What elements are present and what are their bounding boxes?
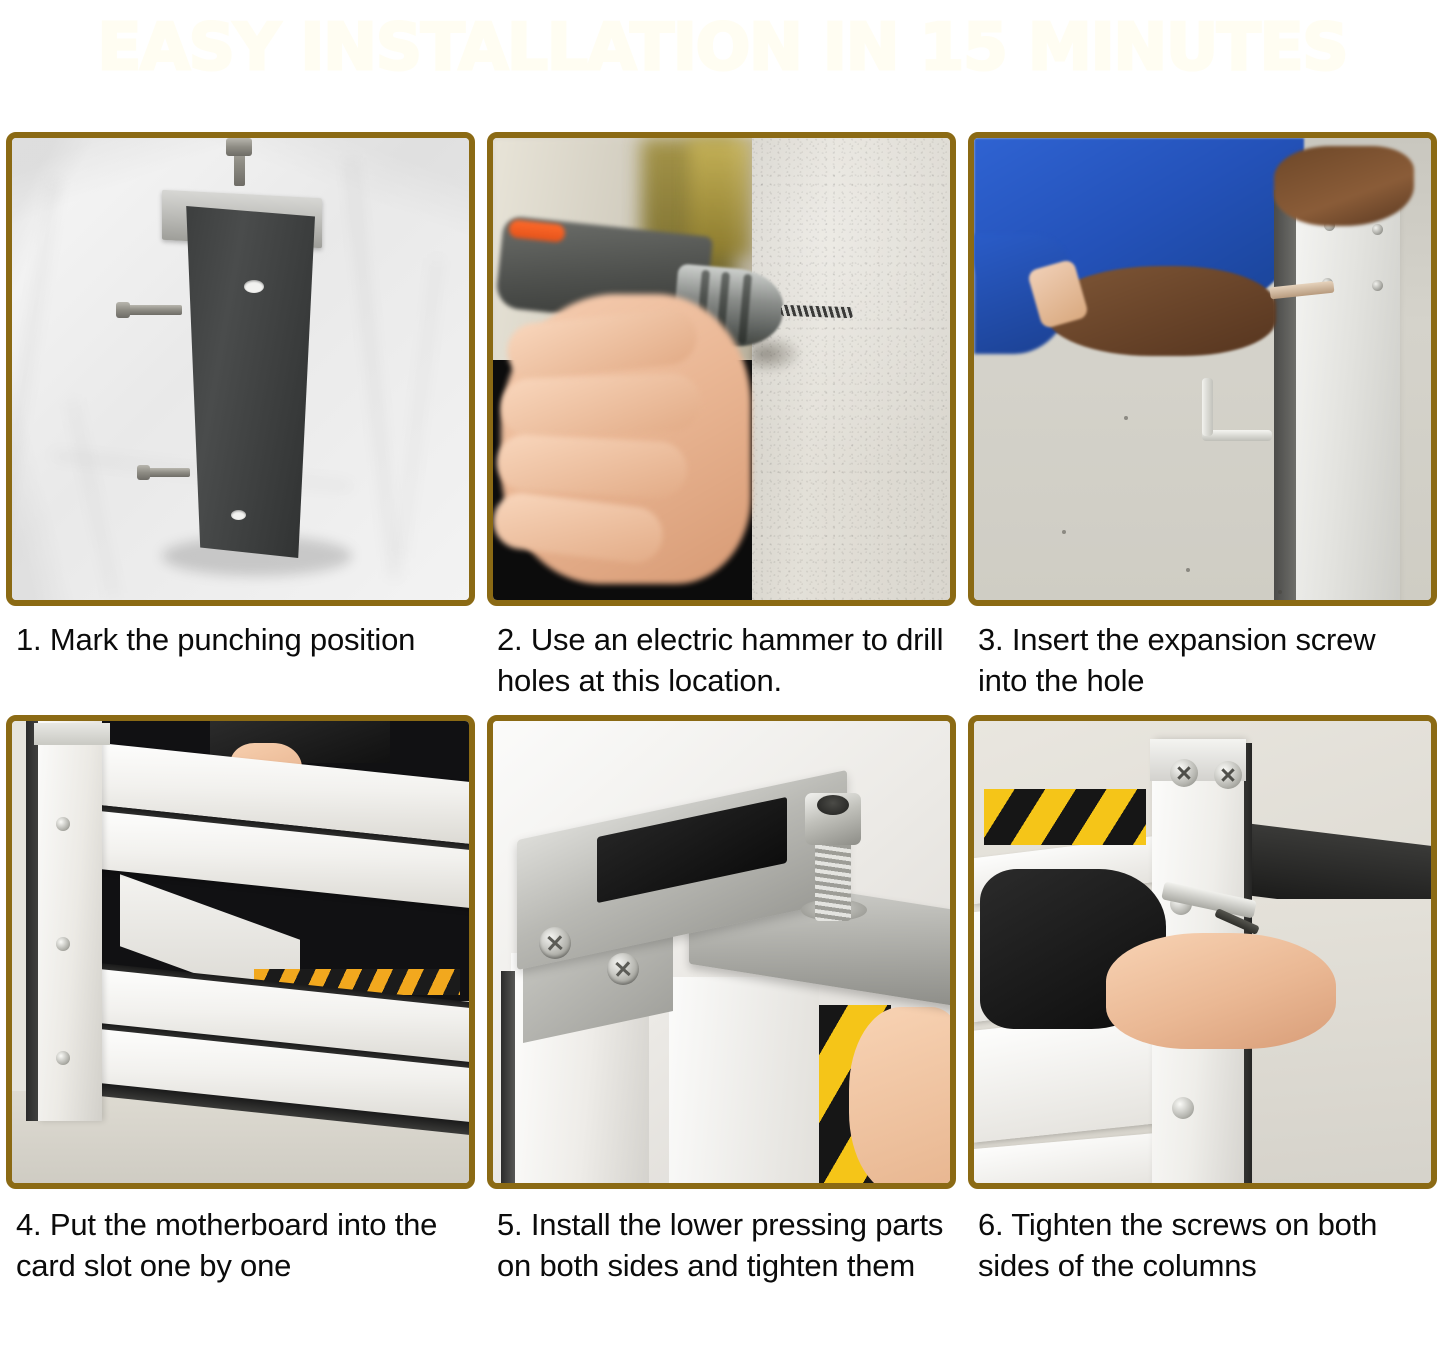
step-6-frame [968,715,1437,1189]
step-3-frame [968,132,1437,606]
steps-grid: 1. Mark the punching position [0,132,1445,1287]
step-1-cell: 1. Mark the punching position [0,132,481,702]
step-2-caption: 2. Use an electric hammer to drill holes… [487,606,956,702]
step-5-frame [487,715,956,1189]
page-title: EASY INSTALLATION IN 15 MINUTES EASY INS… [98,11,1348,85]
page-title-banner: EASY INSTALLATION IN 15 MINUTES EASY INS… [0,0,1445,96]
step-3-caption: 3. Insert the expansion screw into the h… [968,606,1437,702]
step-4-cell: 4. Put the motherboard into the card slo… [0,715,481,1287]
step-2-frame [487,132,956,606]
step-6-cell: 6. Tighten the screws on both sides of t… [962,715,1443,1287]
step-5-photo-install-lower-pressing-parts [493,721,950,1183]
step-1-frame [6,132,475,606]
step-3-cell: 3. Insert the expansion screw into the h… [962,132,1443,702]
step-1-caption: 1. Mark the punching position [6,606,475,661]
step-2-cell: 2. Use an electric hammer to drill holes… [481,132,962,702]
step-6-photo-tighten-screws [974,721,1431,1183]
step-5-cell: 5. Install the lower pressing parts on b… [481,715,962,1287]
step-1-photo-mark-punching-position [12,138,469,600]
page-title-text: EASY INSTALLATION IN 15 MINUTES [98,11,1348,85]
installation-infographic: EASY INSTALLATION IN 15 MINUTES EASY INS… [0,0,1445,1352]
step-6-caption: 6. Tighten the screws on both sides of t… [968,1189,1437,1287]
step-3-photo-insert-expansion-screw [974,138,1431,600]
steps-row-1: 1. Mark the punching position [0,132,1445,702]
step-4-caption: 4. Put the motherboard into the card slo… [6,1189,475,1287]
step-4-photo-put-motherboard-in-slot [12,721,469,1183]
steps-row-2: 4. Put the motherboard into the card slo… [0,715,1445,1287]
step-4-frame [6,715,475,1189]
step-2-photo-drill-holes [493,138,950,600]
step-5-caption: 5. Install the lower pressing parts on b… [487,1189,956,1287]
